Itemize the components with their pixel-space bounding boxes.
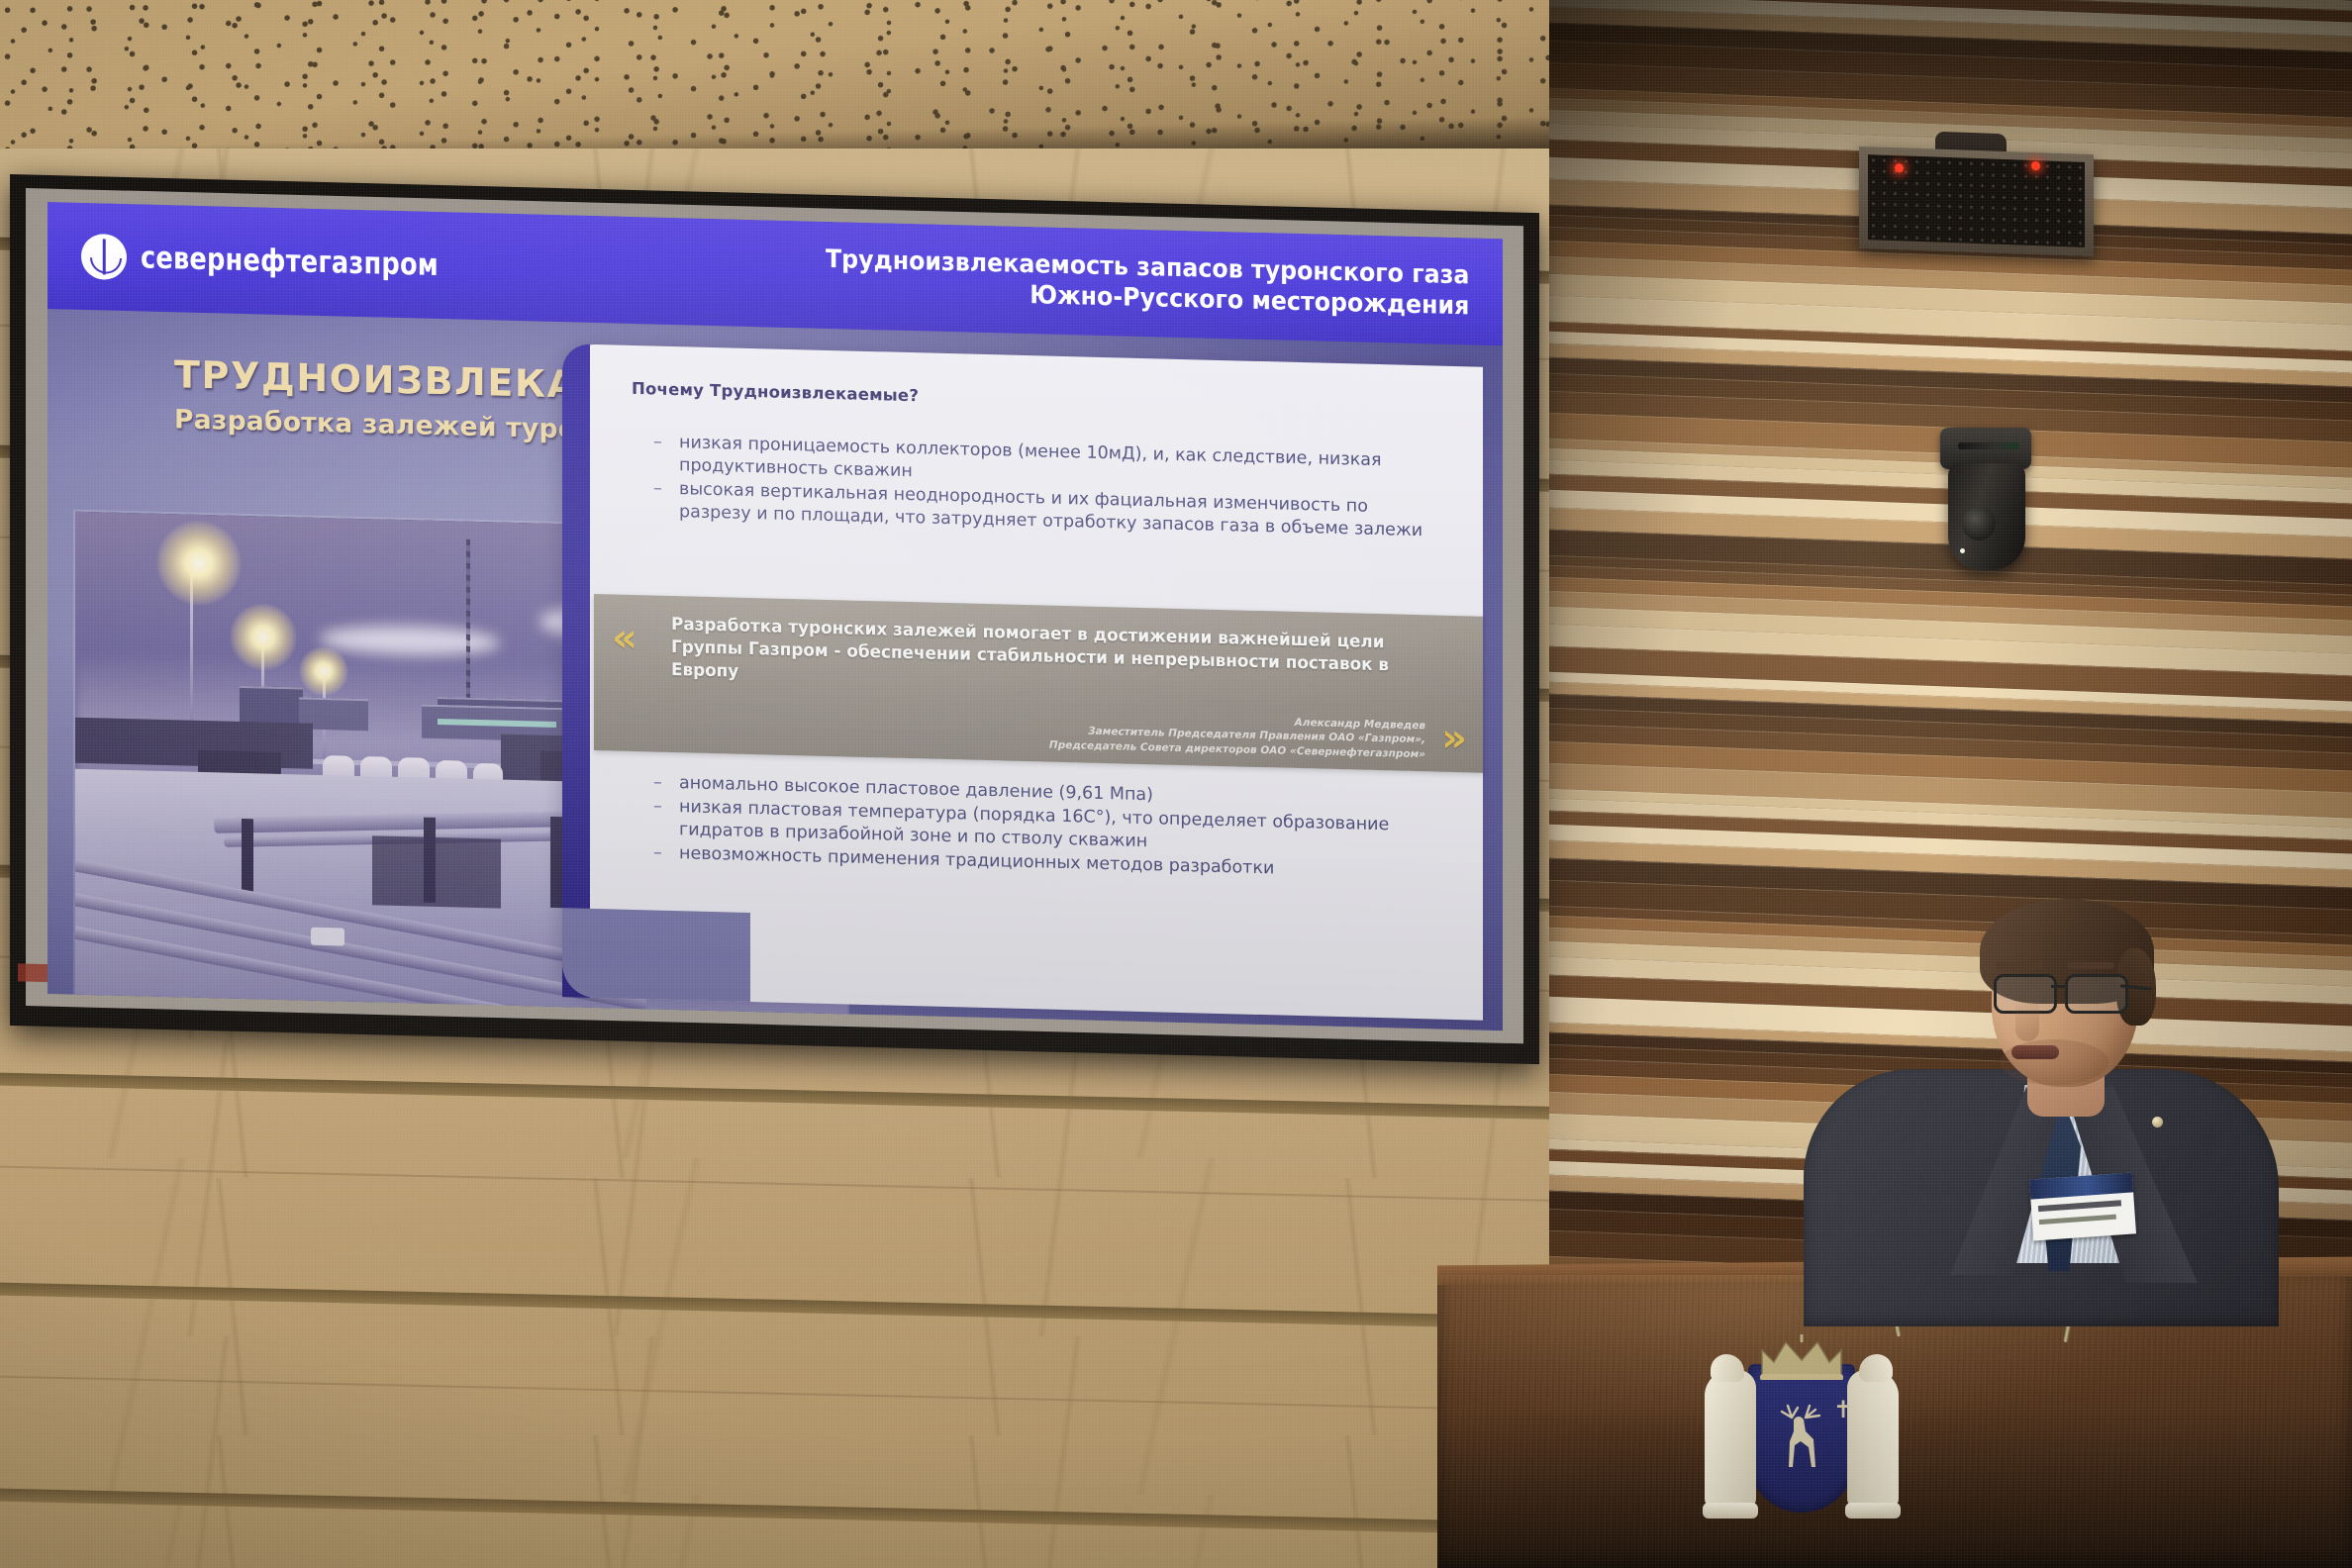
quote-text: Разработка туронских залежей помогает в … xyxy=(671,614,1403,700)
camera-head xyxy=(1948,463,2025,570)
glasses-lens-right xyxy=(2065,974,2128,1014)
panel-heading: Почему Трудноизвлекаемые? xyxy=(632,379,919,405)
bullet-list-top: –низкая проницаемость коллекторов (менее… xyxy=(653,431,1445,544)
camera-status-led-icon xyxy=(1960,548,1965,553)
company-logo: севернефтегазпром xyxy=(81,234,464,289)
bullet-list-bottom: –аномально высокое пластовое давление (9… xyxy=(653,771,1445,886)
lapel-pin-icon xyxy=(2152,1117,2163,1127)
quote-attribution: Александр Медведев Заместитель Председат… xyxy=(1049,709,1425,761)
yamalo-nenets-coat-of-arms: ✝ xyxy=(1683,1326,1920,1554)
sng-logo-icon xyxy=(81,234,127,280)
presentation-slide: севернефтегазпром Трудноизвлекаемость за… xyxy=(48,202,1503,1030)
nose xyxy=(2015,1002,2039,1041)
camera-vent-slot xyxy=(1958,442,2019,449)
eyebrow-right xyxy=(2067,962,2114,969)
quote-open-icon: « xyxy=(612,618,637,658)
bullet-marker: – xyxy=(653,771,665,794)
reindeer-icon xyxy=(1776,1404,1829,1485)
eyeglasses-icon xyxy=(1990,974,2142,1010)
bullet-marker: – xyxy=(653,842,665,865)
panel-bottom-cut xyxy=(562,908,750,1002)
bullet-marker: – xyxy=(653,796,665,841)
ptz-camera[interactable] xyxy=(1934,428,2037,578)
slide-content-panel: Почему Трудноизвлекаемые? –низкая прониц… xyxy=(562,343,1483,1021)
polar-bear-left-icon xyxy=(1705,1370,1756,1509)
crown-icon xyxy=(1758,1334,1845,1380)
led-indicator-left-icon xyxy=(1895,163,1904,172)
led-matrix-display[interactable] xyxy=(1859,147,2094,256)
bullet-marker: – xyxy=(653,431,665,476)
quote-close-icon: » xyxy=(1441,719,1467,759)
badge-org-line xyxy=(2039,1215,2116,1225)
presenter xyxy=(1833,891,2249,1307)
cross-icon: ✝ xyxy=(1833,1398,1853,1421)
projection-screen: севернефтегазпром Трудноизвлекаемость за… xyxy=(0,174,1554,1055)
screen-surface: севернефтегазпром Трудноизвлекаемость за… xyxy=(48,202,1503,1030)
name-badge xyxy=(2029,1172,2136,1240)
bullet-marker: – xyxy=(653,478,665,524)
camera-lens-icon xyxy=(1962,507,1996,540)
slide-header-title: Трудноизвлекаемость запасов туронского г… xyxy=(826,245,1469,323)
badge-name-line xyxy=(2038,1200,2121,1212)
logo-text: севернефтегазпром xyxy=(141,240,439,283)
eyebrow-left xyxy=(1996,962,2043,969)
glasses-bridge xyxy=(2051,985,2067,988)
conference-hall-scene: севернефтегазпром Трудноизвлекаемость за… xyxy=(0,0,2352,1568)
panel-accent-bar xyxy=(562,343,590,998)
polar-bear-right-icon xyxy=(1847,1370,1899,1509)
mouth xyxy=(2011,1045,2059,1059)
quote-box: « » Разработка туронских залежей помогае… xyxy=(594,594,1483,773)
led-indicator-right-icon xyxy=(2031,161,2040,170)
